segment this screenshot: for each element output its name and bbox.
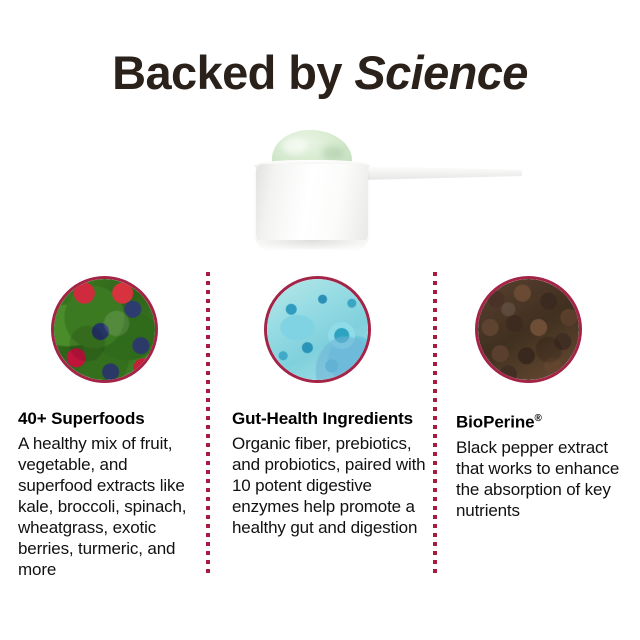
feature-body-superfoods: A healthy mix of fruit, vegetable, and s… [18, 433, 200, 580]
feature-heading-bioperine: BioPerine® [456, 408, 628, 433]
feature-heading-bioperine-text: BioPerine [456, 413, 534, 432]
feature-body-bioperine: Black pepper extract that works to enhan… [456, 437, 628, 521]
feature-column-gut-health: Gut-Health Ingredients Organic fiber, pr… [232, 408, 428, 538]
feature-body-gut-health: Organic fiber, prebiotics, and probiotic… [232, 433, 428, 538]
salad-photo [54, 279, 155, 380]
feature-heading-gut-health: Gut-Health Ingredients [232, 408, 428, 429]
hero-scoop-image [248, 126, 544, 256]
scoop-handle [360, 166, 522, 180]
bacteria-photo [267, 279, 368, 380]
feature-column-superfoods: 40+ Superfoods A healthy mix of fruit, v… [18, 408, 200, 580]
divider-2 [433, 272, 437, 578]
circle-image-gut-health [264, 276, 371, 383]
peppercorn-photo [478, 279, 579, 380]
circle-image-bioperine [475, 276, 582, 383]
scoop-cup [256, 164, 368, 246]
circle-image-superfoods [51, 276, 158, 383]
registered-trademark-icon: ® [534, 413, 541, 424]
divider-1 [206, 272, 210, 578]
feature-column-bioperine: BioPerine® Black pepper extract that wor… [456, 408, 628, 521]
page-title-plain: Backed by [112, 46, 354, 99]
feature-heading-superfoods: 40+ Superfoods [18, 408, 200, 429]
page-title-emphasis: Science [354, 46, 527, 99]
page-title: Backed by Science [0, 48, 640, 97]
